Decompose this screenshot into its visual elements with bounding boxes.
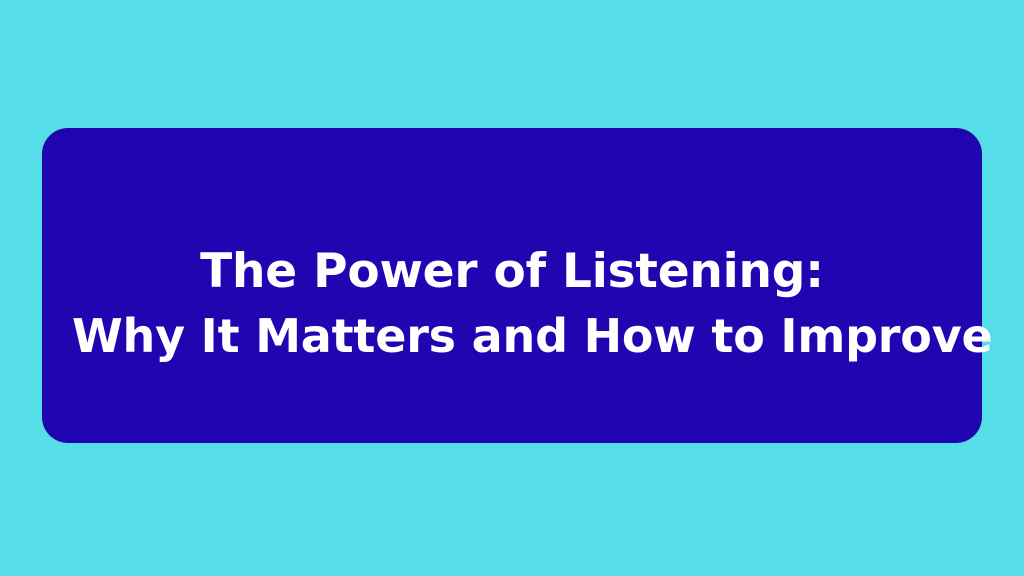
page-title: The Power of Listening: Why It Matters a… (72, 239, 952, 369)
title-card: The Power of Listening: Why It Matters a… (42, 128, 982, 443)
title-line-2: Why It Matters and How to Improve (72, 304, 952, 369)
slide-canvas: The Power of Listening: Why It Matters a… (0, 0, 1024, 576)
title-line-1: The Power of Listening: (72, 239, 952, 304)
